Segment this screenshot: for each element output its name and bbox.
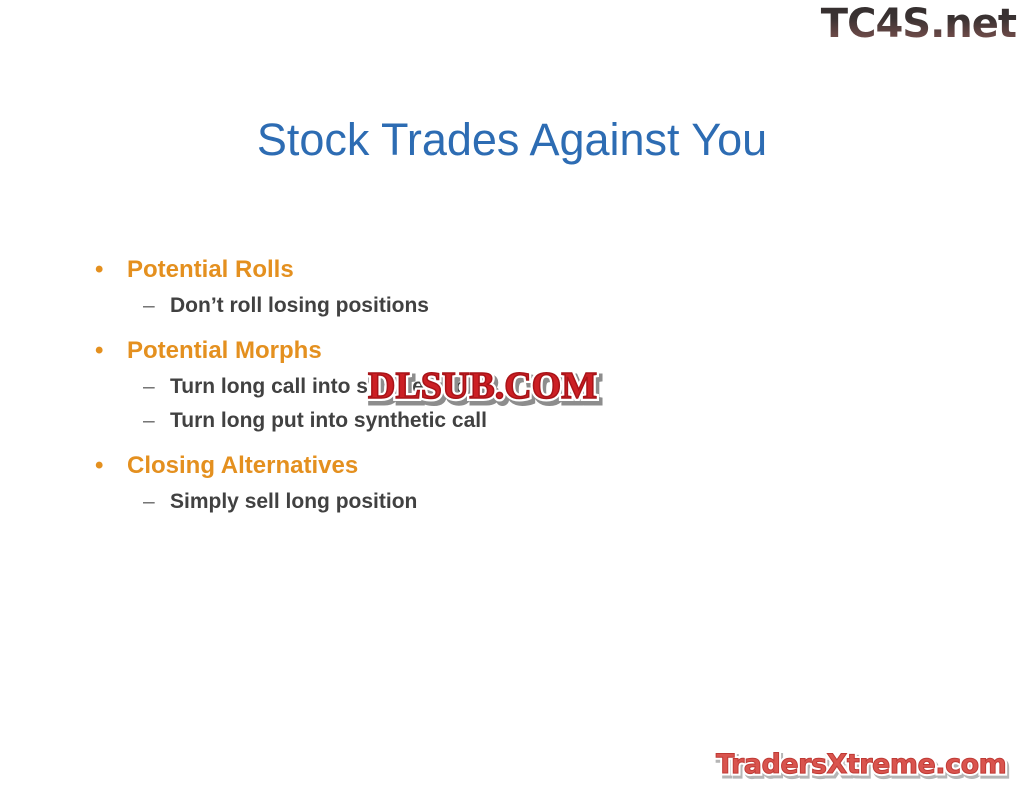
en-dash-icon: – xyxy=(143,410,155,431)
slide-canvas: TC4S.net Stock Trades Against You • Pote… xyxy=(0,0,1024,791)
footer-watermark: TradersXtreme.com TradersXtreme.com Trad… xyxy=(716,751,1006,778)
list-item-level1-label: Potential Rolls xyxy=(127,258,294,282)
center-watermark: DLSUB.COM DLSUB.COM DLSUB.COM DLSUB.COM xyxy=(368,367,597,405)
en-dash-icon: – xyxy=(143,491,155,512)
list-item-level1-label: Potential Morphs xyxy=(127,339,322,363)
bullet-group: • Potential Rolls – Don’t roll losing po… xyxy=(0,258,900,316)
bullet-group: • Closing Alternatives – Simply sell lon… xyxy=(0,454,900,512)
bullet-dot-icon: • xyxy=(95,454,103,478)
tc4s-brand-logo: TC4S.net xyxy=(819,0,1018,52)
list-item-level2-label: Don’t roll losing positions xyxy=(170,295,429,316)
list-item-level2: – Turn long put into synthetic call xyxy=(0,410,900,431)
list-item-level2-label: Simply sell long position xyxy=(170,491,417,512)
bullet-dot-icon: • xyxy=(95,258,103,282)
list-item-level1: • Potential Morphs xyxy=(0,339,900,363)
en-dash-icon: – xyxy=(143,295,155,316)
list-item-level1-label: Closing Alternatives xyxy=(127,454,358,478)
center-watermark-text: DLSUB.COM xyxy=(368,367,597,405)
group-spacer xyxy=(0,316,900,339)
footer-watermark-text: TradersXtreme.com xyxy=(716,751,1006,778)
list-item-level2: – Simply sell long position xyxy=(0,491,900,512)
bullet-dot-icon: • xyxy=(95,339,103,363)
page-title: Stock Trades Against You xyxy=(0,114,1024,166)
list-item-level2: – Don’t roll losing positions xyxy=(0,295,900,316)
group-spacer xyxy=(0,431,900,454)
list-item-level1: • Potential Rolls xyxy=(0,258,900,282)
list-item-level2-label: Turn long put into synthetic call xyxy=(170,410,487,431)
en-dash-icon: – xyxy=(143,376,155,397)
list-item-level1: • Closing Alternatives xyxy=(0,454,900,478)
